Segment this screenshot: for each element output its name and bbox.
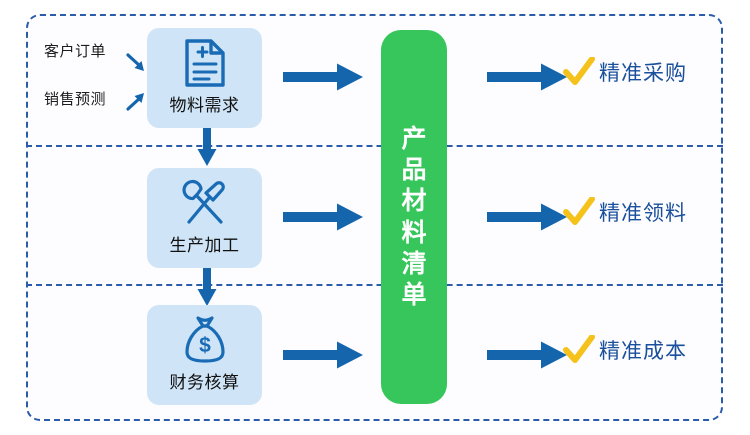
arrow-down-right-icon [126,52,148,79]
check-icon [563,197,595,227]
hammer-wrench-icon [179,177,231,229]
stage-label-finance: 财务核算 [170,368,240,393]
bom-char-4: 清 [401,251,426,277]
money-bag-icon: $ [181,314,229,366]
svg-text:$: $ [199,334,211,357]
source-label-sales-forecast: 销售预测 [44,88,106,109]
stage-label-production: 生产加工 [170,231,240,256]
arrow-up-right-icon [126,90,148,117]
arrow-right-icon [283,340,365,375]
stage-box-material-demand[interactable]: 物料需求 [147,28,262,128]
arrow-right-icon [487,340,569,375]
document-plus-icon [182,37,228,89]
arrow-right-icon [283,202,365,237]
stage-box-finance[interactable]: $ 财务核算 [147,305,262,405]
arrow-right-icon [487,202,569,237]
check-icon [563,57,595,87]
stage-label-material-demand: 物料需求 [170,91,240,116]
bom-char-5: 单 [401,282,426,308]
check-icon [563,335,595,365]
bill-of-materials-bar[interactable]: 产 品 材 料 清 单 [381,30,447,404]
arrow-right-icon [283,62,365,97]
source-label-customer-order: 客户订单 [44,40,106,61]
bom-char-3: 料 [401,220,426,246]
outcome-label-accurate-purchasing: 精准采购 [599,57,687,87]
diagram-canvas: 客户订单 销售预测 物料需求 [0,0,750,435]
outcome-label-accurate-picking: 精准领料 [599,197,687,227]
bom-char-1: 品 [401,157,426,183]
arrow-right-icon [487,62,569,97]
row-divider-1 [26,145,723,147]
outcome-accurate-picking[interactable]: 精准领料 [563,197,687,227]
outcome-accurate-cost[interactable]: 精准成本 [563,335,687,365]
bom-char-2: 材 [401,188,426,214]
arrow-down-icon [196,128,218,173]
bom-char-0: 产 [401,126,426,152]
stage-box-production[interactable]: 生产加工 [147,168,262,268]
row-divider-2 [26,284,723,286]
outcome-label-accurate-cost: 精准成本 [599,335,687,365]
outcome-accurate-purchasing[interactable]: 精准采购 [563,57,687,87]
